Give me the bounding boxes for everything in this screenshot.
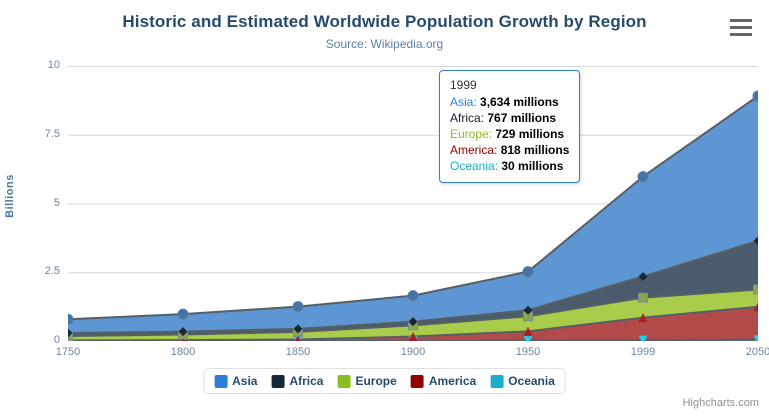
legend-swatch-america [411,375,424,388]
marker-asia-1900[interactable] [408,291,418,301]
legend-label-asia: Asia [232,374,257,388]
highcharts-chart-container: Historic and Estimated Worldwide Populat… [0,0,769,416]
tooltip-series-name: Asia: [450,95,480,109]
tooltip-header: 1999 [450,78,569,92]
legend-item-oceania[interactable]: Oceania [490,374,555,388]
y-tick-label-2-5: 2.5 [16,266,60,277]
tooltip-series-value: 818 millions [501,143,570,157]
tooltip-series-value: 3,634 millions [480,95,559,109]
legend-label-africa: Africa [289,374,323,388]
x-tick-label-1900: 1900 [378,346,448,358]
marker-asia-1999[interactable] [638,172,648,182]
y-tick-label-0: 0 [16,335,60,346]
y-tick-label-5: 5 [16,198,60,209]
marker-europe-1999[interactable] [639,293,648,302]
tooltip-row-africa: Africa: 767 millions [450,110,569,126]
tooltip-row-asia: Asia: 3,634 millions [450,94,569,110]
tooltip-series-name: Oceania: [450,159,501,173]
legend-swatch-europe [337,375,350,388]
x-tick-label-1750: 1750 [33,346,103,358]
legend-swatch-africa [271,375,284,388]
tooltip-series-name: Europe: [450,127,495,141]
x-tick-label-1800: 1800 [148,346,218,358]
series-areas [68,96,758,341]
x-tick-label-1850: 1850 [263,346,333,358]
hamburger-menu-icon[interactable] [729,16,753,38]
credits-link[interactable]: Highcharts.com [683,397,759,409]
legend-label-america: America [429,374,476,388]
tooltip-row-america: America: 818 millions [450,142,569,158]
tooltip-rows: Asia: 3,634 millionsAfrica: 767 millions… [450,94,569,174]
marker-europe-2050[interactable] [754,285,759,294]
x-tick-label-1950: 1950 [493,346,563,358]
y-tick-label-10: 10 [16,60,60,71]
y-tick-label-7-5: 7.5 [16,129,60,140]
x-axis-tick-labels: 1750180018501900195019992050 [0,346,769,362]
tooltip-series-value: 729 millions [495,127,564,141]
tooltip-row-europe: Europe: 729 millions [450,126,569,142]
legend-item-africa[interactable]: Africa [271,374,323,388]
hamburger-bar-1 [730,19,752,22]
chart-plot-svg [68,66,758,341]
tooltip-series-name: Africa: [450,111,487,125]
tooltip-series-value: 30 millions [501,159,563,173]
marker-asia-1850[interactable] [293,302,303,312]
tooltip-series-value: 767 millions [487,111,556,125]
hamburger-bar-2 [730,26,752,29]
chart-title: Historic and Estimated Worldwide Populat… [0,12,769,32]
tooltip-series-name: America: [450,143,501,157]
tooltip-row-oceania: Oceania: 30 millions [450,158,569,174]
plot-area [68,66,758,341]
legend-swatch-oceania [490,375,503,388]
legend-item-europe[interactable]: Europe [337,374,396,388]
tooltip: 1999 Asia: 3,634 millionsAfrica: 767 mil… [439,70,580,183]
legend-label-oceania: Oceania [508,374,555,388]
marker-asia-1950[interactable] [523,267,533,277]
x-tick-label-1999: 1999 [608,346,678,358]
legend-item-america[interactable]: America [411,374,476,388]
marker-asia-1800[interactable] [178,309,188,319]
x-tick-label-2050: 2050 [723,346,769,358]
chart-subtitle: Source: Wikipedia.org [0,37,769,51]
y-axis-title: Billions [4,161,16,231]
legend-label-europe: Europe [355,374,396,388]
legend-item-asia[interactable]: Asia [214,374,257,388]
hamburger-bar-3 [730,33,752,36]
legend-swatch-asia [214,375,227,388]
chart-legend[interactable]: AsiaAfricaEuropeAmericaOceania [203,368,566,394]
